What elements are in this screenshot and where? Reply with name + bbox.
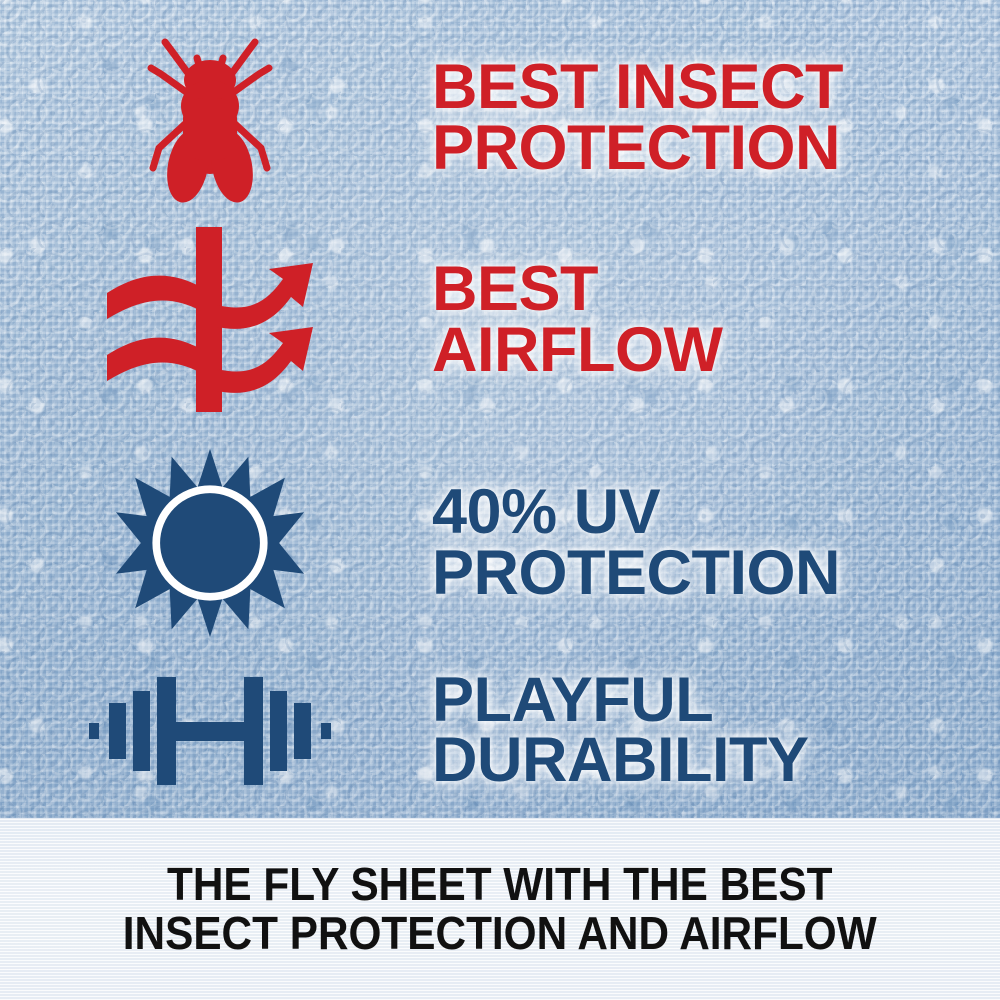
feature-label-airflow: BEST AIRFLOW	[432, 259, 1000, 380]
text-cell-airflow: BEST AIRFLOW	[420, 259, 1000, 380]
product-feature-infographic: BEST INSECT PROTECTION BEST AIRFLOW	[0, 0, 1000, 1000]
icon-cell-airflow	[0, 227, 420, 412]
icon-cell-insect	[0, 28, 420, 208]
feature-row-airflow: BEST AIRFLOW	[0, 222, 1000, 417]
feature-label-insect-protection: BEST INSECT PROTECTION	[432, 57, 1000, 178]
fly-icon	[135, 28, 285, 208]
text-cell-insect: BEST INSECT PROTECTION	[420, 57, 1000, 178]
feature-label-durability: PLAYFUL DURABILITY	[432, 670, 1000, 791]
icon-cell-durability	[0, 665, 420, 795]
dumbbell-icon	[85, 665, 335, 795]
icon-cell-uv	[0, 447, 420, 639]
airflow-arrows-icon	[101, 227, 319, 412]
caption-headline: THE FLY SHEET WITH THE BEST INSECT PROTE…	[123, 860, 877, 958]
feature-label-uv-protection: 40% UV PROTECTION	[432, 482, 1000, 603]
sun-icon	[114, 447, 306, 639]
feature-row-durability: PLAYFUL DURABILITY	[0, 650, 1000, 810]
feature-row-insect-protection: BEST INSECT PROTECTION	[0, 30, 1000, 205]
feature-row-uv-protection: 40% UV PROTECTION	[0, 440, 1000, 645]
text-cell-durability: PLAYFUL DURABILITY	[420, 670, 1000, 791]
caption-banner: THE FLY SHEET WITH THE BEST INSECT PROTE…	[0, 818, 1000, 1000]
text-cell-uv: 40% UV PROTECTION	[420, 482, 1000, 603]
